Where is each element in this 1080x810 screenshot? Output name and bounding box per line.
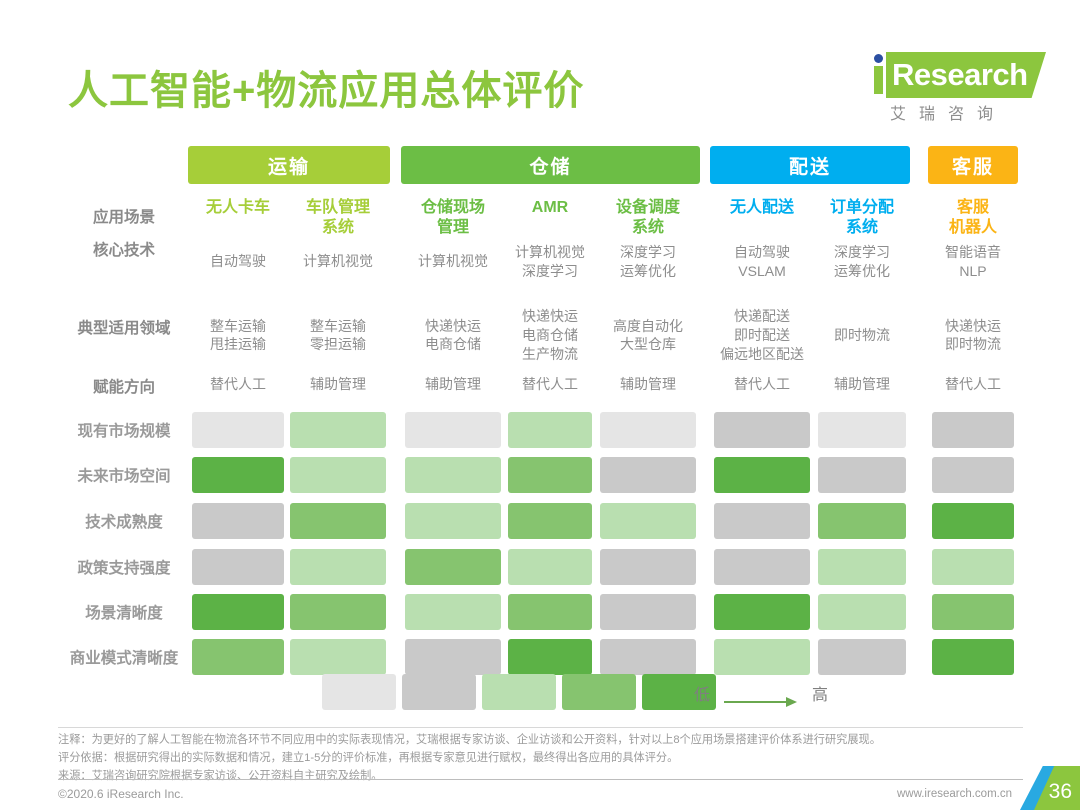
cell-domains-col3: 快递快运电商仓储生产物流 [508,307,592,364]
cell-line: 电商仓储 [405,335,501,354]
cell-core-tech-col5: 自动驾驶VSLAM [714,243,810,281]
cell-line: 辅助管理 [405,375,501,394]
cell-domains-col2: 快递快运电商仓储 [405,317,501,355]
copyright-text: ©2020.6 iResearch Inc. [58,787,184,801]
heat-cell-r5-c5 [714,639,810,675]
heat-cell-r1-c2 [405,457,501,493]
row-label-8: 场景清晰度 [58,601,190,623]
cell-scenario-col3: AMR [508,198,592,218]
cell-line: 快递配送 [714,307,810,326]
cell-line: 替代人工 [192,375,284,394]
heat-cell-r0-c0 [192,412,284,448]
cell-line: 客服 [932,198,1014,218]
heat-cell-r4-c3 [508,594,592,630]
heat-cell-r1-c5 [714,457,810,493]
cell-line: 即时配送 [714,326,810,345]
cell-line: AMR [508,198,592,218]
cell-scenario-col7: 客服机器人 [932,198,1014,238]
footnotes: 注释：为更好的了解人工智能在物流各环节不同应用中的实际表现情况，艾瑞根据专家访谈… [58,731,1023,785]
heat-cell-r4-c2 [405,594,501,630]
heat-cell-r2-c3 [508,503,592,539]
cell-empower-col3: 替代人工 [508,375,592,394]
logo-wordmark: Research [892,57,1028,93]
cell-core-tech-col3: 计算机视觉深度学习 [508,243,592,281]
website-url: www.iresearch.com.cn [897,788,1012,800]
cell-line: 替代人工 [508,375,592,394]
cell-line: 即时物流 [818,326,906,345]
cell-scenario-col6: 订单分配系统 [818,198,906,238]
heat-cell-r1-c7 [932,457,1014,493]
cell-line: 深度学习 [508,262,592,281]
heat-cell-r3-c2 [405,549,501,585]
heat-cell-r3-c6 [818,549,906,585]
cell-line: 计算机视觉 [405,252,501,271]
cell-empower-col5: 替代人工 [714,375,810,394]
cell-line: 自动驾驶 [714,243,810,262]
cell-line: 运筹优化 [600,262,696,281]
heat-cell-r5-c3 [508,639,592,675]
heat-cell-r5-c1 [290,639,386,675]
category-band-1: 仓储 [401,146,700,184]
cell-domains-col1: 整车运输零担运输 [290,317,386,355]
row-label-5: 未来市场空间 [58,464,190,486]
logo-dot-icon [874,54,883,63]
cell-scenario-col2: 仓储现场管理 [405,198,501,238]
heat-cell-r3-c3 [508,549,592,585]
heat-cell-r4-c0 [192,594,284,630]
cell-line: 运筹优化 [818,262,906,281]
heat-cell-r2-c6 [818,503,906,539]
heat-cell-r2-c7 [932,503,1014,539]
category-band-label: 运输 [268,152,310,179]
row-label-6: 技术成熟度 [58,510,190,532]
cell-scenario-col0: 无人卡车 [192,198,284,218]
row-label-7: 政策支持强度 [58,556,190,578]
heat-cell-r5-c7 [932,639,1014,675]
cell-core-tech-col7: 智能语音NLP [932,243,1014,281]
category-band-3: 客服 [928,146,1018,184]
cell-line: 机器人 [932,218,1014,238]
category-band-0: 运输 [188,146,390,184]
heat-cell-r4-c5 [714,594,810,630]
cell-line: 系统 [818,218,906,238]
heat-cell-r2-c4 [600,503,696,539]
cell-line: 管理 [405,218,501,238]
cell-empower-col6: 辅助管理 [818,375,906,394]
heat-cell-r1-c1 [290,457,386,493]
cell-empower-col4: 辅助管理 [600,375,696,394]
heat-cell-r1-c3 [508,457,592,493]
footnote-line-2: 评分依据：根据研究得出的实际数据和情况，建立1-5分的评价标准，再根据专家意见进… [58,749,1023,767]
row-label-9: 商业模式清晰度 [58,646,190,668]
heat-cell-r5-c2 [405,639,501,675]
cell-line: 计算机视觉 [508,243,592,262]
category-band-2: 配送 [710,146,910,184]
heat-cell-r3-c1 [290,549,386,585]
cell-line: 生产物流 [508,345,592,364]
logo-chinese-name: 艾瑞咨询 [890,100,1006,124]
heat-cell-r4-c1 [290,594,386,630]
cell-line: 整车运输 [192,317,284,336]
heat-cell-r2-c1 [290,503,386,539]
cell-line: NLP [932,262,1014,281]
legend-swatch-3 [482,674,556,710]
cell-line: 辅助管理 [600,375,696,394]
cell-core-tech-col2: 计算机视觉 [405,252,501,271]
legend-swatch-1 [322,674,396,710]
heat-cell-r0-c3 [508,412,592,448]
heat-cell-r5-c6 [818,639,906,675]
legend-low-label: 低 [694,681,710,705]
cell-core-tech-col6: 深度学习运筹优化 [818,243,906,281]
heat-cell-r3-c7 [932,549,1014,585]
logo-i-bar-icon [874,66,883,94]
cell-line: 快递快运 [508,307,592,326]
row-label-3: 赋能方向 [58,375,190,397]
cell-scenario-col4: 设备调度系统 [600,198,696,238]
row-label-1: 核心技术 [58,238,190,260]
category-band-label: 仓储 [529,152,571,179]
slide-page: 人工智能+物流应用总体评价 Research 艾瑞咨询 运输仓储配送客服 应用场… [0,0,1080,810]
cell-empower-col7: 替代人工 [932,375,1014,394]
legend-swatch-2 [402,674,476,710]
heat-cell-r0-c1 [290,412,386,448]
iresearch-logo: Research 艾瑞咨询 [862,52,1052,124]
heat-cell-r0-c4 [600,412,696,448]
heat-cell-r0-c6 [818,412,906,448]
cell-line: 快递快运 [932,317,1014,336]
cell-line: 替代人工 [932,375,1014,394]
cell-line: 即时物流 [932,335,1014,354]
page-title: 人工智能+物流应用总体评价 [68,58,584,116]
footnote-line-1: 注释：为更好的了解人工智能在物流各环节不同应用中的实际表现情况，艾瑞根据专家访谈… [58,731,1023,749]
heat-cell-r1-c6 [818,457,906,493]
heat-cell-r1-c0 [192,457,284,493]
cell-line: 替代人工 [714,375,810,394]
cell-line: 偏远地区配送 [714,345,810,364]
cell-core-tech-col4: 深度学习运筹优化 [600,243,696,281]
cell-line: 系统 [600,218,696,238]
cell-core-tech-col1: 计算机视觉 [290,252,386,271]
heat-cell-r4-c7 [932,594,1014,630]
cell-domains-col6: 即时物流 [818,326,906,345]
heat-cell-r0-c2 [405,412,501,448]
cell-domains-col0: 整车运输甩挂运输 [192,317,284,355]
cell-line: 辅助管理 [290,375,386,394]
cell-domains-col4: 高度自动化大型仓库 [600,317,696,355]
cell-line: 甩挂运输 [192,335,284,354]
heat-cell-r0-c5 [714,412,810,448]
row-label-0: 应用场景 [58,205,190,227]
heat-cell-r3-c0 [192,549,284,585]
row-label-2: 典型适用领域 [58,316,190,338]
notes-divider-top [58,727,1023,728]
cell-line: 无人配送 [714,198,810,218]
cell-empower-col1: 辅助管理 [290,375,386,394]
cell-line: 快递快运 [405,317,501,336]
heat-cell-r1-c4 [600,457,696,493]
footnote-line-3: 来源：艾瑞咨询研究院根据专家访谈、公开资料自主研究及绘制。 [58,767,1023,785]
cell-line: VSLAM [714,262,810,281]
cell-line: 整车运输 [290,317,386,336]
cell-line: 仓储现场 [405,198,501,218]
heat-cell-r2-c2 [405,503,501,539]
cell-line: 深度学习 [600,243,696,262]
logo-mark: Research [862,52,1052,98]
category-band-label: 配送 [789,152,831,179]
cell-line: 电商仓储 [508,326,592,345]
heat-cell-r4-c6 [818,594,906,630]
cell-domains-col5: 快递配送即时配送偏远地区配送 [714,307,810,364]
cell-line: 车队管理 [290,198,386,218]
row-label-4: 现有市场规模 [58,419,190,441]
heat-cell-r2-c5 [714,503,810,539]
heat-cell-r3-c4 [600,549,696,585]
cell-line: 深度学习 [818,243,906,262]
page-number: 36 [1049,780,1072,804]
heat-cell-r3-c5 [714,549,810,585]
cell-line: 计算机视觉 [290,252,386,271]
cell-line: 自动驾驶 [192,252,284,271]
cell-line: 智能语音 [932,243,1014,262]
cell-line: 大型仓库 [600,335,696,354]
heat-cell-r4-c4 [600,594,696,630]
legend-swatch-4 [562,674,636,710]
cell-line: 高度自动化 [600,317,696,336]
cell-line: 系统 [290,218,386,238]
cell-line: 设备调度 [600,198,696,218]
heat-cell-r5-c0 [192,639,284,675]
cell-empower-col0: 替代人工 [192,375,284,394]
cell-empower-col2: 辅助管理 [405,375,501,394]
legend-arrow-icon [724,697,802,707]
page-corner-decoration: 36 [1020,766,1080,810]
legend-high-label: 高 [812,681,828,705]
cell-line: 订单分配 [818,198,906,218]
footer-divider [58,779,1023,780]
cell-line: 无人卡车 [192,198,284,218]
category-band-label: 客服 [952,152,994,179]
heat-cell-r0-c7 [932,412,1014,448]
cell-line: 辅助管理 [818,375,906,394]
cell-line: 零担运输 [290,335,386,354]
heat-cell-r5-c4 [600,639,696,675]
cell-domains-col7: 快递快运即时物流 [932,317,1014,355]
cell-core-tech-col0: 自动驾驶 [192,252,284,271]
cell-scenario-col5: 无人配送 [714,198,810,218]
heat-cell-r2-c0 [192,503,284,539]
cell-scenario-col1: 车队管理系统 [290,198,386,238]
